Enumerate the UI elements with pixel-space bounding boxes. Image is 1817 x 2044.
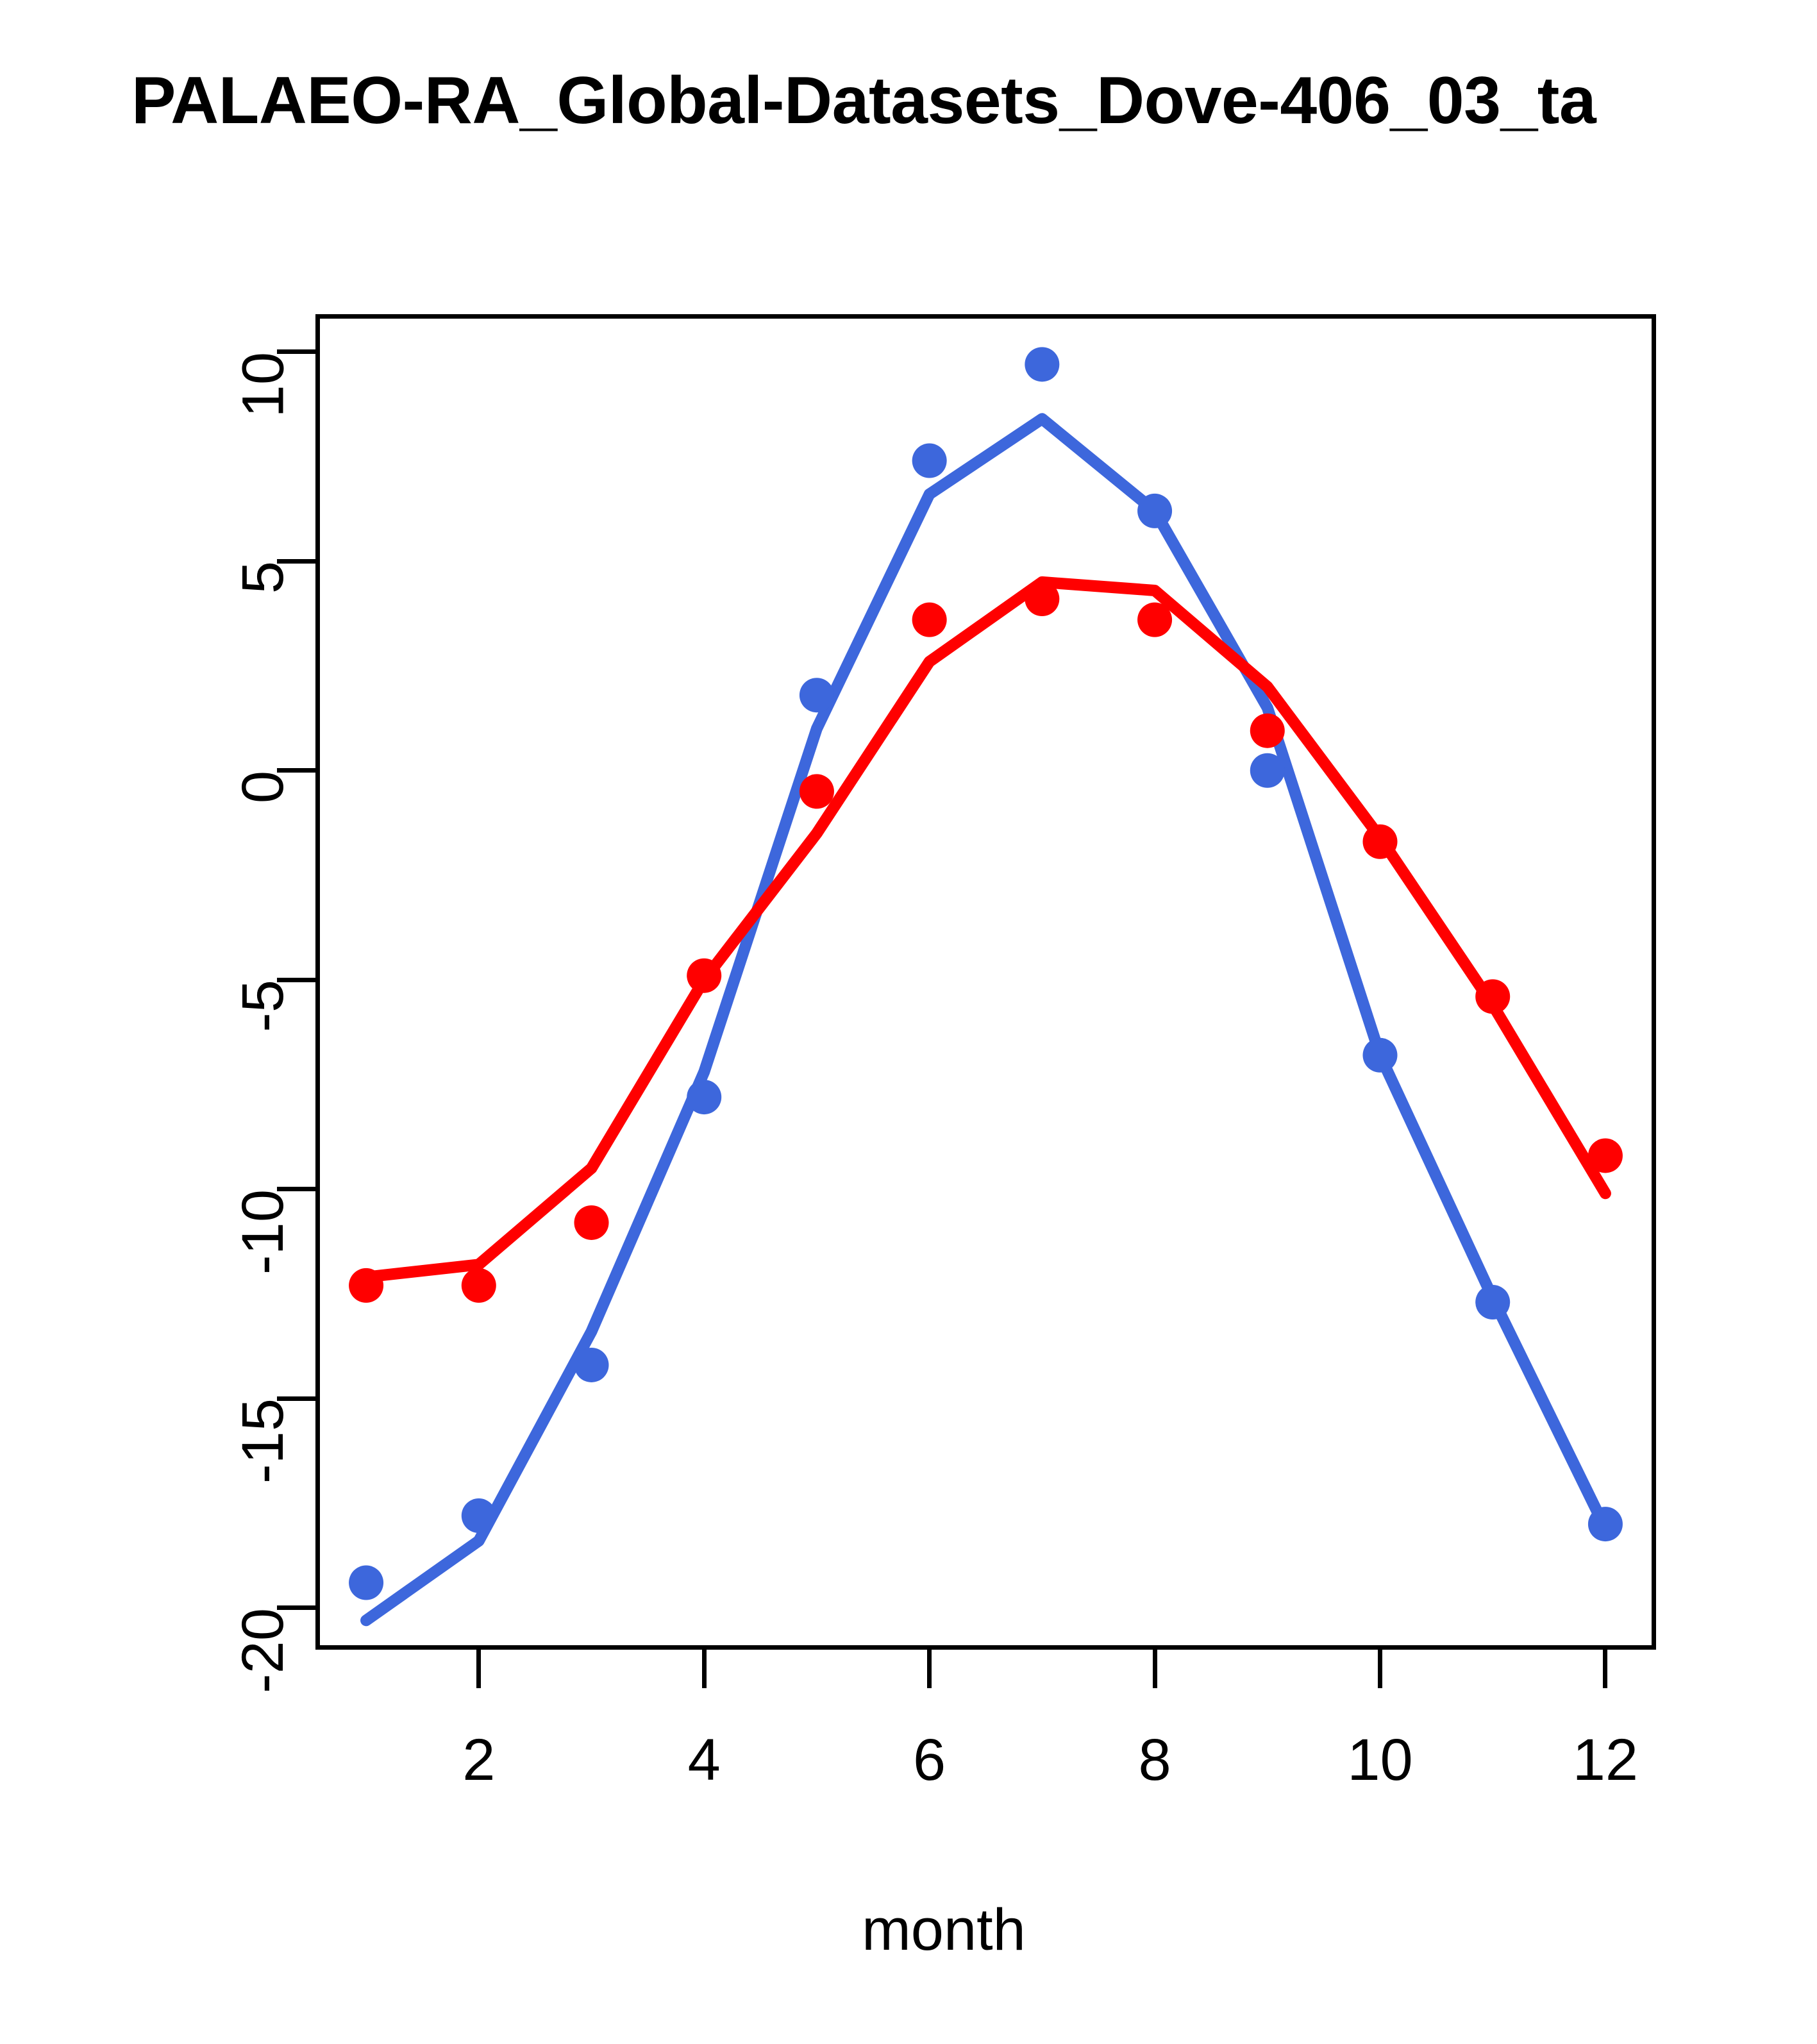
- data-point: [1588, 1507, 1623, 1541]
- y-axis-tick-label: -10: [230, 1189, 296, 1275]
- chart-svg: [315, 314, 1656, 1650]
- x-axis-tick-label: 10: [1347, 1725, 1412, 1795]
- data-point: [1025, 347, 1059, 381]
- chart-page: PALAEO-RA_Global-Datasets_Dove-406_03_ta…: [0, 0, 1817, 2044]
- x-axis-tick-label: 12: [1573, 1725, 1638, 1795]
- data-point: [349, 1268, 383, 1303]
- data-point: [1363, 825, 1398, 859]
- data-point: [349, 1566, 383, 1600]
- x-axis-tick: [1153, 1650, 1157, 1688]
- data-point: [1250, 714, 1285, 748]
- data-point: [1475, 979, 1510, 1014]
- data-point: [800, 774, 834, 808]
- data-point: [1137, 494, 1172, 528]
- x-axis-tick: [1378, 1650, 1382, 1688]
- data-point: [800, 678, 834, 712]
- x-axis-tick: [1603, 1650, 1607, 1688]
- series-points-blue-points: [349, 347, 1623, 1600]
- data-point: [574, 1205, 609, 1240]
- y-axis-tick-label: -5: [230, 980, 296, 1032]
- data-point: [1363, 1038, 1398, 1073]
- data-point: [912, 444, 947, 478]
- series-line-blue-line: [366, 419, 1605, 1620]
- data-point: [462, 1498, 496, 1533]
- data-point: [1588, 1138, 1623, 1173]
- data-point: [574, 1348, 609, 1382]
- x-axis-title: month: [0, 1895, 1817, 1965]
- x-axis-tick: [702, 1650, 707, 1688]
- y-axis-tick-label: 0: [230, 771, 296, 803]
- x-axis-title-label: month: [862, 1897, 1026, 1963]
- x-axis-tick: [927, 1650, 932, 1688]
- x-axis-tick-label: 4: [688, 1725, 721, 1795]
- x-axis-tick-label: 8: [1138, 1725, 1171, 1795]
- data-point: [1025, 582, 1059, 616]
- x-axis-tick-label: 2: [462, 1725, 495, 1795]
- y-axis-tick-label: -15: [230, 1398, 296, 1484]
- series-line-red-line: [366, 582, 1605, 1277]
- y-axis-tick-label: 10: [230, 352, 296, 417]
- y-axis-tick-label: -20: [230, 1608, 296, 1693]
- x-axis-tick: [476, 1650, 481, 1688]
- x-axis-tick-label: 6: [913, 1725, 946, 1795]
- data-point: [912, 603, 947, 637]
- data-point: [687, 1080, 721, 1114]
- series-points-red-points: [349, 582, 1623, 1303]
- data-point: [1250, 753, 1285, 788]
- plot-data-layer: [315, 314, 1656, 1650]
- data-point: [687, 959, 721, 993]
- data-point: [1475, 1285, 1510, 1319]
- y-axis-tick-label: 5: [230, 561, 296, 594]
- data-point: [1137, 603, 1172, 637]
- page-title: PALAEO-RA_Global-Datasets_Dove-406_03_ta: [131, 59, 1817, 142]
- data-point: [462, 1268, 496, 1303]
